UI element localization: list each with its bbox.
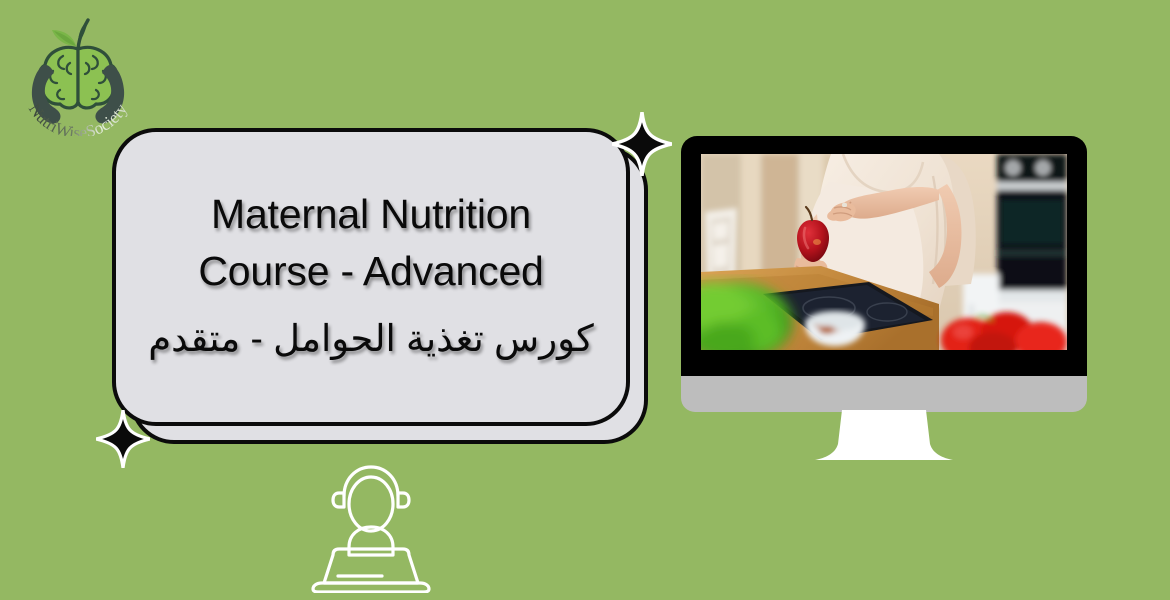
course-title-card: Maternal Nutrition Course - Advanced كور…	[112, 128, 652, 448]
course-promo-poster: NutriWiseSociety Maternal Nutrition Cour…	[0, 0, 1170, 600]
monitor-chin	[681, 376, 1087, 412]
monitor-bezel	[681, 136, 1087, 403]
desktop-monitor	[681, 136, 1087, 466]
headset-person-laptop-icon	[308, 455, 434, 593]
course-title-arabic: كورس تغذية الحوامل - متقدم	[142, 314, 600, 364]
brain-icon	[39, 47, 117, 108]
nutriwise-society-logo: NutriWiseSociety	[8, 8, 148, 136]
course-title-english: Maternal Nutrition Course - Advanced	[198, 186, 543, 299]
monitor-stand	[681, 410, 1087, 462]
four-point-star-icon	[96, 410, 150, 468]
card-front-layer: Maternal Nutrition Course - Advanced كور…	[112, 128, 630, 426]
monitor-screen-photo	[701, 154, 1067, 350]
four-point-star-icon	[612, 112, 672, 176]
